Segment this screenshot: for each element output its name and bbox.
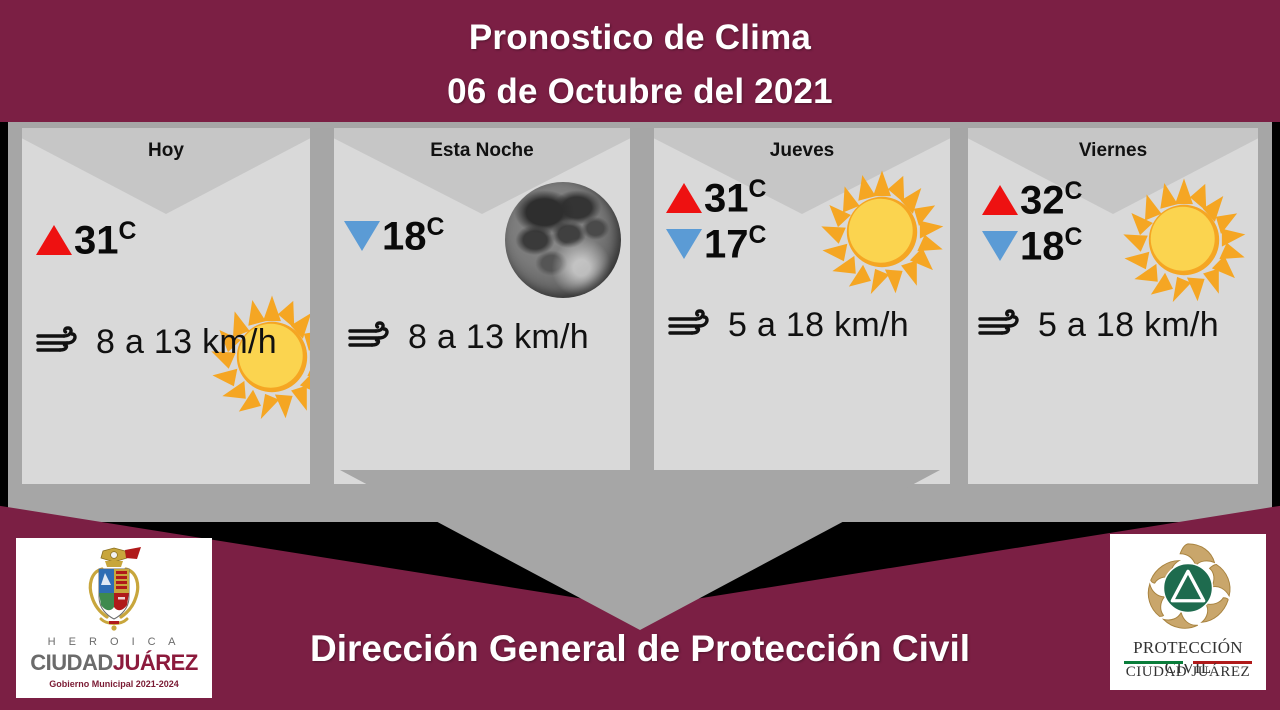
temperature-block: 31C — [36, 220, 136, 260]
proteccion-civil-subtitle: CIUDAD JUÁREZ — [1110, 664, 1266, 681]
temperature-block: 31C 17C — [666, 178, 766, 265]
high-temp-value: 31C — [704, 178, 766, 218]
high-temp-row: 31C — [36, 220, 136, 260]
triangle-down-icon — [344, 221, 380, 251]
temperature-block: 32C 18C — [982, 180, 1082, 267]
low-temp-value: 18C — [1020, 226, 1082, 266]
wind-icon — [348, 318, 396, 357]
temperature-block: 18C — [344, 216, 444, 256]
ciudad-juarez-logo: H E R O I C A CIUDADJUÁREZ Gobierno Muni… — [16, 538, 212, 698]
wind-info: 8 a 13 km/h — [36, 323, 277, 362]
weather-forecast-graphic: Pronostico de Clima 06 de Octubre del 20… — [0, 0, 1280, 710]
wind-icon — [668, 306, 716, 345]
logo-city-name: CIUDADJUÁREZ — [16, 650, 212, 676]
triangle-up-icon — [36, 225, 72, 255]
triangle-down-icon — [666, 229, 702, 259]
forecast-card-viernes[interactable]: Viernes 32C 18C — [968, 128, 1258, 484]
header-banner: Pronostico de Clima 06 de Octubre del 20… — [0, 0, 1280, 122]
forecast-card-esta-noche[interactable]: Esta Noche 18C — [334, 128, 630, 484]
card-day-label: Hoy — [22, 140, 310, 162]
wind-speed-text: 5 a 18 km/h — [1038, 306, 1219, 345]
wind-speed-text: 5 a 18 km/h — [728, 306, 909, 345]
low-temp-row: 18C — [344, 216, 444, 256]
forecast-cards-row: Hoy 31C — [0, 128, 1280, 484]
sun-icon — [818, 168, 946, 296]
triangle-up-icon — [666, 183, 702, 213]
wind-info: 8 a 13 km/h — [348, 318, 589, 357]
forecast-card-hoy[interactable]: Hoy 31C — [22, 128, 310, 484]
wind-icon — [36, 323, 84, 362]
logo-government-label: Gobierno Municipal 2021-2024 — [16, 679, 212, 689]
high-temp-row: 32C — [982, 180, 1082, 220]
sun-icon — [1120, 176, 1248, 304]
high-temp-value: 31C — [74, 220, 136, 260]
low-temp-row: 17C — [666, 224, 766, 264]
triangle-down-icon — [982, 231, 1018, 261]
proteccion-civil-emblem-icon — [1110, 538, 1266, 638]
low-temp-value: 17C — [704, 224, 766, 264]
high-temp-value: 32C — [1020, 180, 1082, 220]
high-temp-row: 31C — [666, 178, 766, 218]
wind-info: 5 a 18 km/h — [668, 306, 909, 345]
wind-speed-text: 8 a 13 km/h — [408, 318, 589, 357]
wind-info: 5 a 18 km/h — [978, 306, 1219, 345]
logo-heroica-label: H E R O I C A — [16, 636, 212, 648]
moon-icon — [505, 182, 621, 298]
header-title-line1: Pronostico de Clima — [0, 18, 1280, 58]
header-title-line2: 06 de Octubre del 2021 — [0, 72, 1280, 112]
coat-of-arms-icon — [16, 544, 212, 632]
forecast-card-jueves[interactable]: Jueves 31C 17C — [654, 128, 950, 484]
proteccion-civil-logo: PROTECCIÓN CIVIL CIUDAD JUÁREZ — [1110, 534, 1266, 690]
wind-icon — [978, 306, 1026, 345]
triangle-up-icon — [982, 185, 1018, 215]
card-day-label: Jueves — [654, 140, 950, 162]
card-day-label: Esta Noche — [334, 140, 630, 162]
low-temp-value: 18C — [382, 216, 444, 256]
low-temp-row: 18C — [982, 226, 1082, 266]
card-day-label: Viernes — [968, 140, 1258, 162]
wind-speed-text: 8 a 13 km/h — [96, 323, 277, 362]
